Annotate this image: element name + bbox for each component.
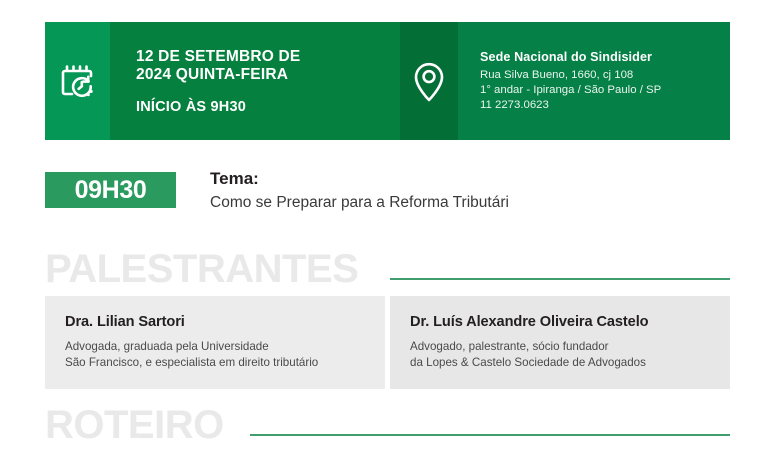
speaker-bio-line: da Lopes & Castelo Sociedade de Advogado… [410,355,710,371]
calendar-icon-panel [45,22,110,140]
event-start-time: INÍCIO ÀS 9H30 [136,99,400,115]
theme-label: Tema: [210,168,509,190]
schedule-row: 09H30 Tema: Como se Preparar para a Refo… [45,168,730,224]
speaker-name: Dra. Lilian Sartori [65,314,365,330]
roteiro-section-heading: ROTEIRO [45,404,730,448]
speaker-card: Dr. Luís Alexandre Oliveira Castelo Advo… [390,296,730,389]
venue-name: Sede Nacional do Sindisider [480,50,730,64]
theme-text: Como se Preparar para a Reforma Tributár… [210,192,509,214]
calendar-clock-icon [57,60,99,102]
map-pin-icon [409,59,449,103]
speaker-name: Dr. Luís Alexandre Oliveira Castelo [410,314,710,330]
roteiro-heading-text: ROTEIRO [45,404,224,446]
location-icon-panel [400,22,458,140]
speaker-bio-line: São Francisco, e especialista em direito… [65,355,365,371]
venue-address-line-1: Rua Silva Bueno, 1660, cj 108 [480,68,730,83]
event-date-line-1: 12 DE SETEMBRO DE [136,48,400,66]
roteiro-heading-rule [250,434,730,436]
venue-address-panel: Sede Nacional do Sindisider Rua Silva Bu… [458,22,730,140]
venue-address-line-2: 1° andar - Ipiranga / São Paulo / SP [480,83,730,98]
speaker-bio-line: Advogada, graduada pela Universidade [65,339,365,355]
session-time-label: 09H30 [75,176,147,205]
event-flyer-page: 12 DE SETEMBRO DE 2024 QUINTA-FEIRA INÍC… [0,0,768,454]
venue-phone: 11 2273.0623 [480,98,730,113]
session-time-badge: 09H30 [45,172,176,208]
event-date-panel: 12 DE SETEMBRO DE 2024 QUINTA-FEIRA INÍC… [110,22,400,140]
event-header-banner: 12 DE SETEMBRO DE 2024 QUINTA-FEIRA INÍC… [45,22,730,140]
speakers-heading-rule [390,278,730,280]
speaker-card: Dra. Lilian Sartori Advogada, graduada p… [45,296,385,389]
speakers-section-heading: PALESTRANTES [45,248,730,292]
speakers-heading-text: PALESTRANTES [45,248,358,290]
speaker-bio-line: Advogado, palestrante, sócio fundador [410,339,710,355]
event-date-line-2: 2024 QUINTA-FEIRA [136,66,400,84]
session-theme-block: Tema: Como se Preparar para a Reforma Tr… [210,168,509,214]
speakers-list: Dra. Lilian Sartori Advogada, graduada p… [45,296,730,389]
